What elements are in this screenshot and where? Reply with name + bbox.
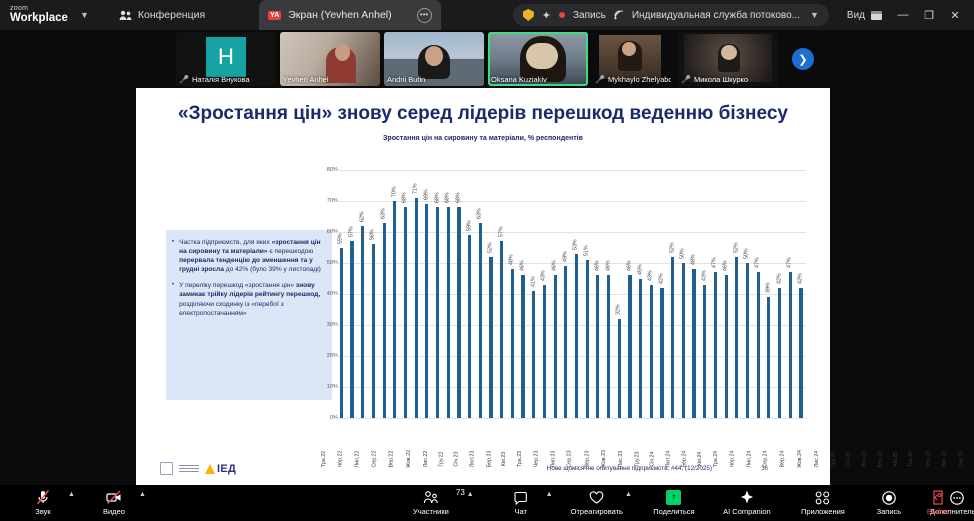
bar-value-label: 69% [423, 190, 429, 201]
bar-cell: 55% [336, 170, 347, 418]
x-axis-tick-label: Сер.25 [959, 450, 974, 467]
apps-icon [815, 490, 830, 505]
bar: 42% [799, 288, 802, 418]
video-button[interactable]: Видео [91, 485, 137, 521]
bar-cell: 46% [518, 170, 529, 418]
heart-icon [589, 490, 604, 505]
bar-value-label: 43% [701, 270, 707, 281]
participant-name: Andrii Butin [387, 75, 425, 84]
record-icon [882, 490, 896, 505]
chat-button[interactable]: Чат [498, 485, 544, 521]
bar: 47% [714, 272, 717, 418]
bar-cell: 57% [496, 170, 507, 418]
bar-value-label: 46% [594, 261, 600, 272]
bar-value-label: 46% [551, 261, 557, 272]
bar: 68% [436, 207, 439, 418]
presenter-initials-badge: YA [268, 11, 281, 20]
bar: 46% [521, 275, 524, 418]
bar-value-label: 59% [466, 221, 472, 232]
bar-value-label: 47% [787, 258, 793, 269]
minimize-button[interactable]: — [890, 0, 916, 30]
bar-value-label: 47% [712, 258, 718, 269]
bar-value-label: 42% [797, 273, 803, 284]
bar-value-label: 45% [637, 264, 643, 275]
bar: 51% [586, 260, 589, 418]
bar: 46% [725, 275, 728, 418]
bar-value-label: 51% [584, 245, 590, 256]
participant-tile[interactable]: Н 🎤Наталія Внукова [176, 32, 276, 86]
meeting-tab[interactable]: Конференция [111, 4, 213, 26]
participant-tile[interactable]: 🎤Микола Шкурко [678, 32, 778, 86]
bar-value-label: 63% [477, 208, 483, 219]
bar: 46% [554, 275, 557, 418]
bar-cell: 63% [475, 170, 486, 418]
bar-cell: 71% [411, 170, 422, 418]
bar-value-label: 62% [359, 211, 365, 222]
participant-name: 🎤Микола Шкурко [681, 75, 748, 84]
video-label: Видео [103, 507, 125, 516]
participant-tile-active-speaker[interactable]: Oksana Kuziakiv [488, 32, 588, 86]
bar-cell: 47% [785, 170, 796, 418]
bar-value-label: 42% [658, 273, 664, 284]
bar-value-label: 39% [765, 283, 771, 294]
participants-count: 73 [456, 488, 465, 497]
bar-cell: 48% [507, 170, 518, 418]
meeting-toolbar: Звук ▲ Видео ▲ Участники 73 ▲ [0, 485, 974, 521]
ai-companion-button[interactable]: AI Companion [716, 485, 778, 521]
plot-area: 55%57%62%56%63%70%68%71%69%68%68%68%59%6… [336, 170, 806, 418]
bar-value-label: 68% [402, 193, 408, 204]
reactions-label: Отреагировать [571, 507, 623, 516]
bar-cell: 63% [379, 170, 390, 418]
reactions-control-group: Отреагировать ▲ [571, 485, 632, 521]
layout-grid-icon [871, 11, 882, 20]
bar: 52% [735, 257, 738, 418]
shared-slide: «Зростання цін» знову серед лідерів пере… [136, 88, 830, 485]
bar: 69% [425, 204, 428, 418]
participants-control-group: Участники 73 ▲ [408, 485, 474, 521]
bar-series: 55%57%62%56%63%70%68%71%69%68%68%68%59%6… [336, 170, 806, 418]
view-label: Вид [847, 10, 865, 21]
bar: 39% [767, 297, 770, 418]
bar-value-label: 55% [338, 233, 344, 244]
bar-cell: 43% [699, 170, 710, 418]
apps-label: Приложения [801, 507, 845, 516]
bar-value-label: 56% [370, 230, 376, 241]
bar-cell: 46% [550, 170, 561, 418]
foundation-logo: ІЕД [160, 462, 236, 475]
bar-cell: 42% [796, 170, 807, 418]
bar: 43% [703, 285, 706, 418]
bar-value-label: 46% [605, 261, 611, 272]
participant-name: Yevhen Anhel [283, 75, 329, 84]
chart-area: •Частка підприємств, для яких «зростання… [150, 170, 816, 445]
gridline [336, 418, 806, 419]
stream-icon [614, 10, 624, 20]
sparkle-icon[interactable]: ✦ [542, 9, 551, 22]
bar: 46% [596, 275, 599, 418]
screen-share-tab-label: Экран (Yevhen Anhel) [288, 9, 391, 21]
chat-icon [514, 490, 527, 505]
bar-value-label: 32% [616, 304, 622, 315]
bar: 62% [361, 226, 364, 418]
bar-cell: 50% [678, 170, 689, 418]
bar: 43% [543, 285, 546, 418]
bar: 47% [757, 272, 760, 418]
camera-off-icon [106, 490, 122, 505]
ied-label: ІЕД [217, 463, 236, 475]
bar: 57% [350, 241, 353, 418]
callout-bullet: •Частка підприємств, для яких «зростання… [172, 238, 324, 274]
bar-cell: 48% [689, 170, 700, 418]
recording-dot-icon [559, 12, 565, 18]
page-title: «Зростання цін» знову серед лідерів пере… [136, 88, 830, 125]
bar: 59% [468, 235, 471, 418]
bar-value-label: 50% [744, 248, 750, 259]
participants-button[interactable]: Участники [408, 485, 454, 521]
bar: 43% [650, 285, 653, 418]
bar-cell: 46% [603, 170, 614, 418]
bar-cell: 42% [774, 170, 785, 418]
bar-cell: 59% [464, 170, 475, 418]
bar-value-label: 50% [680, 248, 686, 259]
maximize-button[interactable]: ❐ [916, 0, 942, 30]
slide-footer: ІЕД Нове щомісячне опитування підприємст… [136, 451, 830, 485]
bar: 50% [746, 263, 749, 418]
mic-off-icon: 🎤 [595, 76, 605, 84]
bar: 50% [682, 263, 685, 418]
page-number: 36 [761, 466, 768, 472]
record-label: Запись [877, 507, 902, 516]
bullet-dot-icon: • [172, 238, 174, 274]
bar-value-label: 57% [348, 227, 354, 238]
bar-value-label: 68% [434, 193, 440, 204]
avatar: Н [206, 37, 246, 77]
meeting-tab-label: Конференция [138, 9, 205, 21]
mic-off-icon: 🎤 [179, 76, 189, 84]
screen-share-tab[interactable]: YA Экран (Yevhen Anhel) ••• [259, 0, 440, 30]
bar: 52% [671, 257, 674, 418]
bar: 53% [575, 254, 578, 418]
people-icon [423, 490, 439, 505]
bar-cell: 42% [657, 170, 668, 418]
bar: 55% [340, 248, 343, 419]
bar: 48% [511, 269, 514, 418]
bar: 71% [415, 198, 418, 418]
zoom-wordmark-small: zoom [10, 5, 68, 12]
bar-cell: 52% [486, 170, 497, 418]
bar: 46% [628, 275, 631, 418]
bar: 41% [532, 291, 535, 418]
bar-cell: 43% [539, 170, 550, 418]
foundation-mark-icon [160, 462, 173, 475]
share-label: Поделиться [653, 507, 694, 516]
participant-name: Oksana Kuziakiv [491, 75, 547, 84]
share-screen-icon: ↑ [666, 490, 681, 505]
leave-label: Выйти [927, 507, 949, 516]
bar: 45% [639, 279, 642, 419]
bar: 52% [489, 257, 492, 418]
close-button[interactable]: ✕ [942, 0, 968, 30]
bar-value-label: 63% [380, 208, 386, 219]
streaming-chevron-down-icon[interactable]: ▼ [810, 10, 819, 20]
bar-cell: 41% [528, 170, 539, 418]
bar-value-label: 70% [391, 186, 397, 197]
chevron-right-icon[interactable]: ❯ [792, 48, 814, 70]
bar-value-label: 71% [413, 183, 419, 194]
bar-value-label: 68% [455, 193, 461, 204]
triangle-icon [205, 464, 215, 474]
bar-cell: 32% [614, 170, 625, 418]
bar: 47% [789, 272, 792, 418]
bar-value-label: 46% [519, 261, 525, 272]
bar-value-label: 48% [690, 255, 696, 266]
bar: 68% [404, 207, 407, 418]
participant-video-strip: Н 🎤Наталія Внукова Yevhen Anhel Andrii B… [0, 30, 974, 88]
bar-cell: 46% [593, 170, 604, 418]
bar-cell: 57% [347, 170, 358, 418]
bar-cell: 39% [764, 170, 775, 418]
bar: 42% [778, 288, 781, 418]
audio-button[interactable]: Звук [20, 485, 66, 521]
bar-cell: 46% [721, 170, 732, 418]
audio-label: Звук [35, 507, 50, 516]
zoom-meeting-window: zoom Workplace ▼ Конференция YA Экран (Y… [0, 0, 974, 521]
bar-cell: 68% [454, 170, 465, 418]
bar: 68% [457, 207, 460, 418]
participant-tile[interactable]: Yevhen Anhel [280, 32, 380, 86]
bar-cell: 62% [357, 170, 368, 418]
view-button[interactable]: Вид [839, 4, 890, 26]
video-control-group: Видео ▲ [91, 485, 146, 521]
chart-subtitle: Зростання цін на сировину та матеріали, … [136, 135, 830, 142]
reactions-button[interactable]: Отреагировать [571, 485, 623, 521]
bar-value-label: 57% [498, 227, 504, 238]
bar-value-label: 53% [573, 239, 579, 250]
bar-cell: 45% [635, 170, 646, 418]
ied-logo: ІЕД [205, 463, 236, 475]
participant-name: 🎤Наталія Внукова [179, 75, 250, 84]
bar-cell: 56% [368, 170, 379, 418]
microphone-off-icon [36, 490, 50, 505]
tab-more-options-icon[interactable]: ••• [417, 8, 432, 23]
bar-cell: 50% [742, 170, 753, 418]
bar-cell: 68% [443, 170, 454, 418]
bar-value-label: 41% [530, 276, 536, 287]
streaming-label[interactable]: Индивидуальная служба потоково... [632, 10, 800, 21]
chevron-down-icon[interactable]: ▼ [80, 10, 89, 20]
bar-cell: 69% [422, 170, 433, 418]
bar-cell: 46% [625, 170, 636, 418]
bar-value-label: 46% [722, 261, 728, 272]
titlebar-right-cluster: ✦ Запись Индивидуальная служба потоково.… [513, 0, 974, 30]
mic-off-icon: 🎤 [681, 76, 691, 84]
bar-cell: 47% [710, 170, 721, 418]
participant-tile[interactable]: 🎤Mykhaylo Zhelyabovsk... [592, 32, 674, 86]
bar: 63% [479, 223, 482, 418]
bar: 49% [564, 266, 567, 418]
bar-value-label: 42% [776, 273, 782, 284]
callout-bullet-text: Частка підприємств, для яких «зростання … [179, 238, 324, 274]
audio-chevron-up-icon[interactable]: ▲ [68, 491, 75, 498]
bar: 48% [692, 269, 695, 418]
share-screen-button[interactable]: ↑ Поделиться [646, 485, 702, 521]
foundation-name-lines [179, 465, 199, 473]
chat-control-group: Чат ▲ [498, 485, 553, 521]
bar: 56% [372, 244, 375, 418]
audio-control-group: Звук ▲ [20, 485, 75, 521]
bar-cell: 43% [646, 170, 657, 418]
chat-chevron-up-icon[interactable]: ▲ [546, 491, 553, 498]
bar-value-label: 52% [733, 242, 739, 253]
bar-cell: 68% [400, 170, 411, 418]
ai-companion-label: AI Companion [723, 507, 771, 516]
meeting-status-pill: ✦ Запись Индивидуальная служба потоково.… [513, 4, 829, 26]
bullet-dot-icon: • [172, 281, 174, 317]
leave-meeting-button[interactable]: Выйти [916, 485, 960, 521]
bar-value-label: 47% [755, 258, 761, 269]
participants-chevron-up-icon[interactable]: ▲ [467, 491, 474, 498]
callout-bullet-text: У переліку перешкод «зростання цін» знов… [179, 281, 324, 317]
bar-value-label: 43% [541, 270, 547, 281]
bar-value-label: 52% [669, 242, 675, 253]
bar-value-label: 52% [487, 242, 493, 253]
bar: 32% [618, 319, 621, 418]
recording-label: Запись [573, 10, 606, 21]
people-icon [119, 10, 132, 21]
bar-cell: 52% [667, 170, 678, 418]
callout-box: •Частка підприємств, для яких «зростання… [166, 230, 332, 400]
leave-door-icon [931, 490, 945, 505]
zoom-logo: zoom Workplace [10, 5, 68, 25]
bar: 42% [660, 288, 663, 418]
title-bar: zoom Workplace ▼ Конференция YA Экран (Y… [0, 0, 974, 30]
bar-value-label: 68% [445, 193, 451, 204]
bar: 63% [383, 223, 386, 418]
record-button[interactable]: Запись [866, 485, 912, 521]
bar: 57% [500, 241, 503, 418]
bar-cell: 49% [560, 170, 571, 418]
security-shield-icon[interactable] [523, 9, 534, 21]
reactions-chevron-up-icon[interactable]: ▲ [625, 491, 632, 498]
callout-bullet: •У переліку перешкод «зростання цін» зно… [172, 281, 324, 317]
participant-name: 🎤Mykhaylo Zhelyabovsk... [595, 75, 671, 84]
y-axis: 0%10%20%30%40%50%60%70%80% [318, 170, 338, 418]
chat-label: Чат [514, 507, 526, 516]
participants-label: Участники [413, 507, 449, 516]
video-chevron-up-icon[interactable]: ▲ [139, 491, 146, 498]
bar-value-label: 48% [509, 255, 515, 266]
zoom-wordmark: Workplace [10, 13, 68, 25]
sparkle-icon [740, 490, 754, 505]
bar-value-label: 46% [626, 261, 632, 272]
bar: 68% [447, 207, 450, 418]
apps-button[interactable]: Приложения [792, 485, 854, 521]
participant-tile[interactable]: Andrii Butin [384, 32, 484, 86]
bar-value-label: 49% [562, 252, 568, 263]
source-note: Нове щомісячне опитування підприємств, #… [547, 465, 712, 472]
bar-cell: 53% [571, 170, 582, 418]
bar-cell: 68% [432, 170, 443, 418]
bar: 46% [607, 275, 610, 418]
bar: 70% [393, 201, 396, 418]
bar-cell: 52% [731, 170, 742, 418]
bar-value-label: 43% [648, 270, 654, 281]
bar-cell: 47% [753, 170, 764, 418]
bar-cell: 70% [389, 170, 400, 418]
bar-cell: 51% [582, 170, 593, 418]
